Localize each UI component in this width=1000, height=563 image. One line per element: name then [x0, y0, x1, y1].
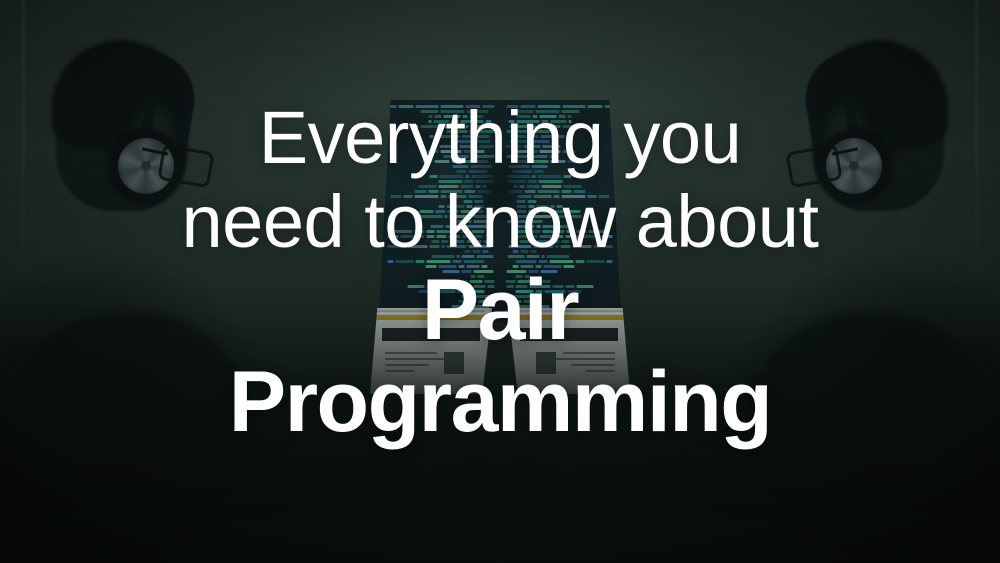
title-line-3: Pair [0, 264, 1000, 356]
hero-banner: Everything you need to know about Pair P… [0, 0, 1000, 563]
title-line-1: Everything you [0, 96, 1000, 180]
title-line-4: Programming [0, 356, 1000, 448]
title-line-2: need to know about [0, 180, 1000, 264]
banner-title: Everything you need to know about Pair P… [0, 96, 1000, 448]
